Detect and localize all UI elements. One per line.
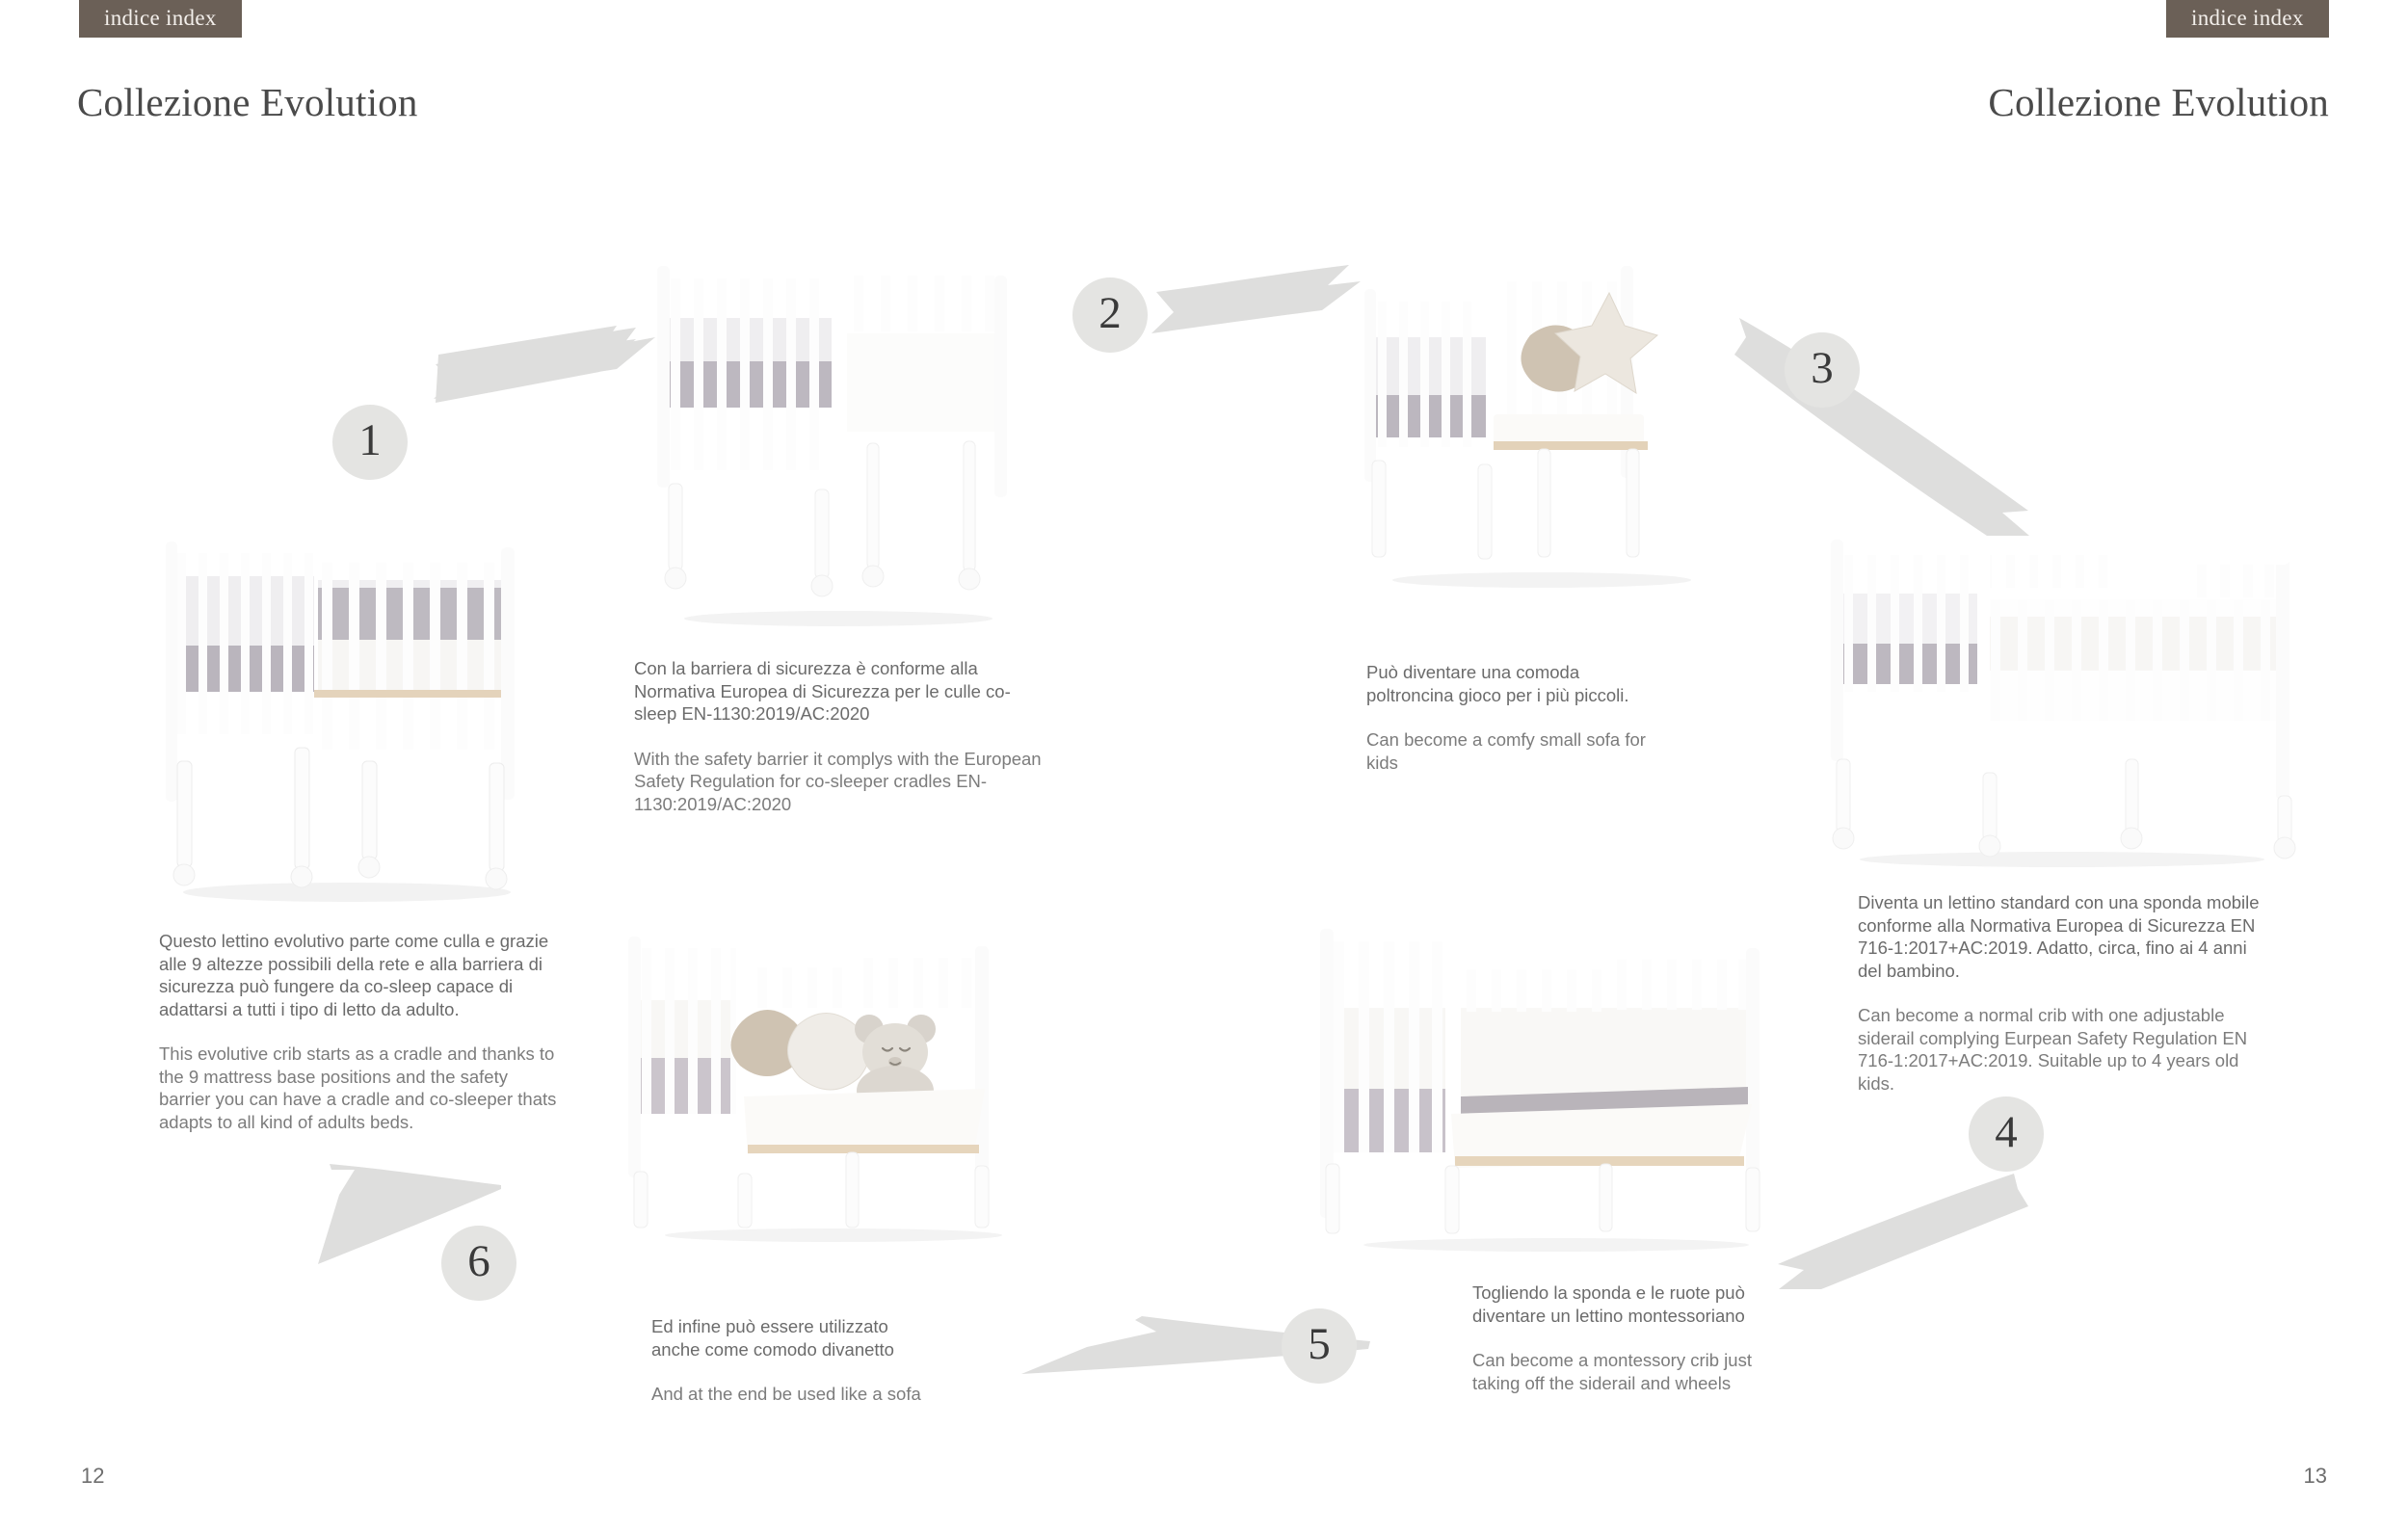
arrow-1-to-2 — [436, 326, 636, 403]
caption-step-3-english: Can become a comfy small sofa for kids — [1366, 728, 1655, 774]
arrow-3-swoosh — [1734, 318, 2029, 536]
catalog-spread: indice index indice index Collezione Evo… — [0, 0, 2408, 1532]
caption-step-2-italian: Con la barriera di sicurezza è conforme … — [634, 657, 1048, 726]
caption-step-4-italian: Diventa un lettino standard con una spon… — [1858, 891, 2262, 982]
caption-step-2-english: With the safety barrier it complys with … — [634, 748, 1048, 816]
index-tab-right-label: indice index — [2191, 6, 2304, 30]
arrow-2-swoosh — [1151, 265, 1361, 333]
step-number-6: 6 — [467, 1239, 490, 1284]
step-number-3: 3 — [1811, 346, 1834, 391]
step-number-2: 2 — [1098, 291, 1122, 336]
crib-standard-photo — [1812, 511, 2313, 867]
caption-step-6: Ed infine può essere utilizzato anche co… — [651, 1315, 940, 1406]
arrow-4-swoosh — [1778, 1174, 2028, 1289]
page-number-right: 13 — [2304, 1464, 2327, 1489]
caption-step-5-italian: Togliendo la sponda e le ruote può diven… — [1472, 1281, 1761, 1327]
caption-step-5-english: Can become a montessory crib just taking… — [1472, 1349, 1761, 1394]
crib-cosleeper-photo — [646, 241, 1031, 626]
caption-step-1-english: This evolutive crib starts as a cradle a… — [159, 1043, 564, 1133]
step-number-1: 1 — [358, 418, 382, 463]
index-tab-right[interactable]: indice index — [2166, 0, 2329, 38]
caption-step-4: Diventa un lettino standard con una spon… — [1858, 891, 2262, 1095]
page-number-left: 12 — [81, 1464, 104, 1489]
caption-step-5: Togliendo la sponda e le ruote può diven… — [1472, 1281, 1761, 1394]
step-badge-6: 6 — [441, 1226, 516, 1301]
arrow-1-swoosh — [434, 328, 655, 399]
caption-step-1: Questo lettino evolutivo parte come cull… — [159, 930, 564, 1133]
step-badge-5: 5 — [1282, 1308, 1357, 1384]
caption-step-6-italian: Ed infine può essere utilizzato anche co… — [651, 1315, 940, 1360]
step-badge-4: 4 — [1969, 1096, 2044, 1172]
caption-step-2: Con la barriera di sicurezza è conforme … — [634, 657, 1048, 815]
step-badge-3: 3 — [1785, 332, 1860, 408]
caption-step-4-english: Can become a normal crib with one adjust… — [1858, 1004, 2262, 1095]
crib-montessori-photo — [1310, 925, 1802, 1253]
page-title-left: Collezione Evolution — [77, 79, 418, 125]
page-title-right: Collezione Evolution — [1988, 79, 2329, 125]
crib-small-sofa-photo — [1349, 241, 1734, 588]
index-tab-left[interactable]: indice index — [79, 0, 242, 38]
step-badge-2: 2 — [1072, 277, 1148, 353]
step-number-5: 5 — [1308, 1322, 1331, 1367]
crib-cradle-photo — [145, 520, 540, 906]
caption-step-1-italian: Questo lettino evolutivo parte come cull… — [159, 930, 564, 1020]
caption-step-3: Può diventare una comoda poltroncina gio… — [1366, 661, 1655, 774]
crib-sofa-photo — [617, 925, 1050, 1243]
step-number-4: 4 — [1995, 1110, 2018, 1155]
caption-step-3-italian: Può diventare una comoda poltroncina gio… — [1366, 661, 1655, 706]
step-badge-1: 1 — [332, 405, 408, 480]
caption-step-6-english: And at the end be used like a sofa — [651, 1383, 940, 1406]
index-tab-left-label: indice index — [104, 6, 217, 30]
